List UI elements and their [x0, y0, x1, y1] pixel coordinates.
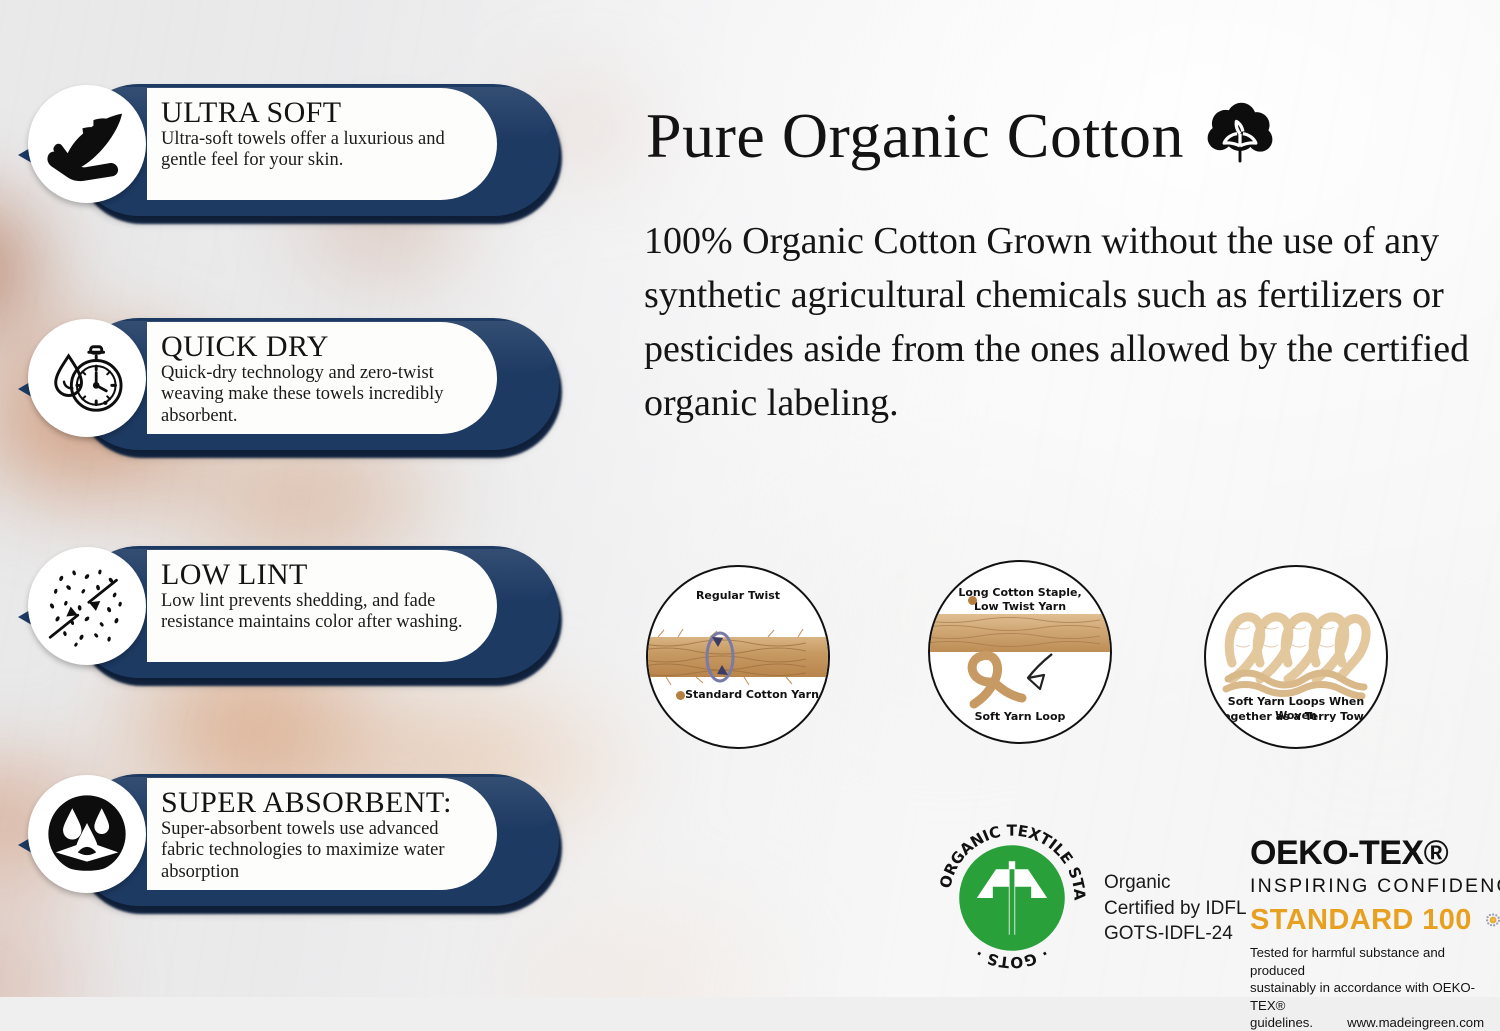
yarn-diagram-group: Regular Twist Standard Cotton Yarn [636, 560, 1500, 760]
gots-caption-line2: Certified by IDFL [1104, 896, 1247, 922]
water-absorption-icon [28, 775, 146, 893]
yarn-diagram-regular-twist: Regular Twist Standard Cotton Yarn [646, 565, 830, 749]
oekotex-flower-icon [1486, 902, 1500, 938]
feature-title: QUICK DRY [161, 332, 481, 362]
oekotex-disclaimer-line1: Tested for harmful substance and produce… [1250, 944, 1500, 979]
oekotex-disclaimer: Tested for harmful substance and produce… [1250, 944, 1500, 1031]
yarn-diagram-terry-loops: Soft Yarn Loops When Woven Together as a… [1204, 565, 1388, 749]
right-content-column: Pure Organic Cotton 100% Organic Cotton … [636, 0, 1500, 997]
oekotex-url[interactable]: www.madeingreen.com [1347, 1014, 1484, 1031]
oekotex-brand: OEKO-TEX® [1250, 836, 1500, 870]
feature-card-low-lint[interactable]: LOW LINT Low lint prevents shedding, and… [18, 540, 563, 692]
feature-description: Super-absorbent towels use advanced fabr… [161, 819, 481, 883]
description-paragraph: 100% Organic Cotton Grown without the us… [644, 215, 1474, 431]
card-text-box: SUPER ABSORBENT: Super-absorbent towels … [147, 778, 497, 890]
oekotex-block: OEKO-TEX® INSPIRING CONFIDENCE STANDARD … [1250, 836, 1500, 1031]
feature-card-list: ULTRA SOFT Ultra-soft towels offer a lux… [0, 0, 600, 997]
yarn-label-top-line2: Low Twist Yarn [930, 600, 1110, 614]
yarn-label-bottom: Soft Yarn Loop [930, 710, 1110, 724]
yarn-diagram-low-twist: Long Cotton Staple, Low Twist Yarn Soft … [928, 560, 1112, 744]
certification-group: GLOBAL ORGANIC TEXTILE STANDARD · GOTS ·… [932, 808, 1500, 998]
headline-block: Pure Organic Cotton [646, 98, 1276, 174]
feature-description: Low lint prevents shedding, and fade res… [161, 591, 481, 634]
yarn-label-top-line1: Long Cotton Staple, [930, 586, 1110, 600]
oekotex-tagline: INSPIRING CONFIDENCE [1250, 873, 1500, 899]
feature-card-ultra-soft[interactable]: ULTRA SOFT Ultra-soft towels offer a lux… [18, 78, 563, 230]
yarn-label-line2: Together as a Terry Towel [1206, 710, 1386, 724]
card-text-box: ULTRA SOFT Ultra-soft towels offer a lux… [147, 88, 497, 200]
feature-card-quick-dry[interactable]: QUICK DRY Quick-dry technology and zero-… [18, 312, 563, 464]
card-text-box: QUICK DRY Quick-dry technology and zero-… [147, 322, 497, 434]
gots-logo-icon: GLOBAL ORGANIC TEXTILE STANDARD · GOTS · [932, 818, 1092, 978]
feature-card-super-absorbent[interactable]: SUPER ABSORBENT: Super-absorbent towels … [18, 768, 563, 920]
feature-description: Ultra-soft towels offer a luxurious and … [161, 129, 481, 172]
feature-title: LOW LINT [161, 560, 481, 590]
yarn-label-bottom: Standard Cotton Yarn [648, 688, 830, 702]
stopwatch-water-drop-icon [28, 319, 146, 437]
page-title: Pure Organic Cotton [646, 104, 1184, 168]
oekotex-standard: STANDARD 100 [1250, 906, 1472, 935]
card-text-box: LOW LINT Low lint prevents shedding, and… [147, 550, 497, 662]
gots-caption: Organic Certified by IDFL GOTS-IDFL-24 [1104, 870, 1247, 947]
feature-title: SUPER ABSORBENT: [161, 788, 481, 818]
feature-description: Quick-dry technology and zero-twist weav… [161, 363, 481, 427]
gots-caption-line3: GOTS-IDFL-24 [1104, 921, 1247, 947]
gots-caption-line1: Organic [1104, 870, 1247, 896]
yarn-label-top: Regular Twist [648, 589, 828, 603]
lint-particles-icon [28, 547, 146, 665]
yarn-bullet-dot [968, 596, 977, 605]
feature-title: ULTRA SOFT [161, 98, 481, 128]
cotton-boll-icon [1204, 102, 1276, 174]
feather-in-hand-icon [28, 85, 146, 203]
oekotex-disclaimer-line3: guidelines. [1250, 1014, 1313, 1031]
